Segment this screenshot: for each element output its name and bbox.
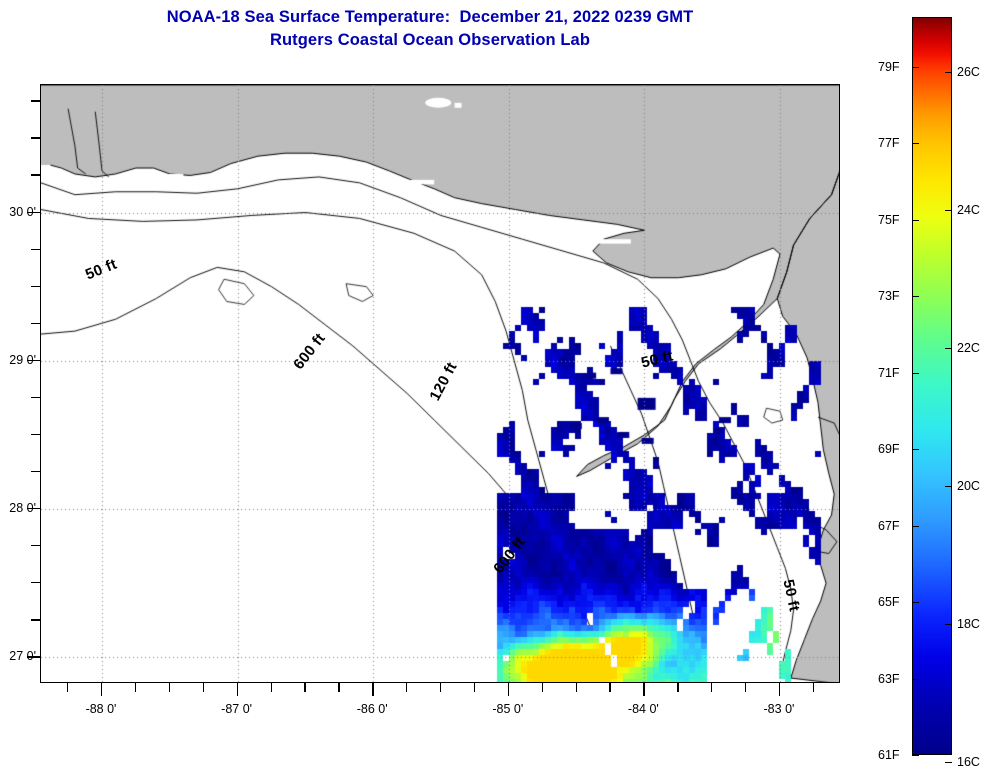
x-axis-tick	[711, 683, 712, 692]
colorbar-tick-celsius	[945, 762, 952, 763]
page-title: NOAA-18 Sea Surface Temperature: Decembe…	[0, 6, 860, 52]
x-axis-tick	[508, 683, 509, 696]
x-axis-label: -88 0'	[86, 702, 117, 716]
y-axis-tick	[31, 582, 40, 583]
colorbar-gradient	[912, 17, 952, 755]
colorbar-tick-fahrenheit	[912, 296, 919, 297]
colorbar-tick-celsius	[945, 624, 952, 625]
colorbar-label-fahrenheit: 65F	[878, 595, 900, 609]
x-axis-tick	[440, 683, 441, 692]
y-axis-label: 29 0'	[9, 353, 36, 367]
title-line-2: Rutgers Coastal Ocean Observation Lab	[0, 29, 860, 52]
colorbar-label-celsius: 16C	[957, 755, 980, 769]
x-axis-tick	[338, 683, 339, 692]
x-axis-tick	[237, 683, 238, 696]
colorbar-label-celsius: 24C	[957, 203, 980, 217]
title-line-1: NOAA-18 Sea Surface Temperature: Decembe…	[0, 6, 860, 29]
y-axis-tick	[31, 323, 40, 324]
colorbar-tick-fahrenheit	[912, 67, 919, 68]
sst-map-plot[interactable]: 50 ft600 ft120 ft600 ft50 ft50 ft	[40, 84, 840, 683]
x-axis-tick	[203, 683, 204, 692]
colorbar-tick-celsius	[945, 348, 952, 349]
x-axis-tick	[271, 683, 272, 692]
x-axis-tick	[474, 683, 475, 692]
colorbar-tick-celsius	[945, 486, 952, 487]
y-axis-label: 27 0'	[9, 649, 36, 663]
colorbar-label-fahrenheit: 69F	[878, 442, 900, 456]
y-axis-tick	[31, 100, 40, 101]
y-axis-tick	[31, 434, 40, 435]
colorbar-label-fahrenheit: 61F	[878, 748, 900, 762]
colorbar-tick-fahrenheit	[912, 449, 919, 450]
colorbar-label-fahrenheit: 67F	[878, 519, 900, 533]
x-axis-tick	[576, 683, 577, 692]
x-axis-tick	[745, 683, 746, 692]
x-axis-tick	[67, 683, 68, 692]
colorbar-tick-fahrenheit	[912, 220, 919, 221]
colorbar-label-fahrenheit: 77F	[878, 136, 900, 150]
colorbar-tick-fahrenheit	[912, 373, 919, 374]
colorbar-tick-fahrenheit	[912, 526, 919, 527]
x-axis-tick	[677, 683, 678, 692]
x-axis-tick	[372, 683, 373, 696]
colorbar-label-celsius: 26C	[957, 65, 980, 79]
colorbar-tick-celsius	[945, 72, 952, 73]
x-axis-label: -86 0'	[357, 702, 388, 716]
x-axis-label: -83 0'	[764, 702, 795, 716]
y-axis-tick	[31, 471, 40, 472]
x-axis-label: -87 0'	[221, 702, 252, 716]
y-axis-tick	[31, 545, 40, 546]
y-axis-tick	[31, 286, 40, 287]
y-axis-label: 28 0'	[9, 501, 36, 515]
y-axis-label: 30 0'	[9, 205, 36, 219]
colorbar-tick-fahrenheit	[912, 602, 919, 603]
x-axis-tick	[101, 683, 102, 696]
colorbar	[912, 17, 952, 755]
colorbar-tick-fahrenheit	[912, 679, 919, 680]
x-axis-tick	[609, 683, 610, 692]
colorbar-label-celsius: 18C	[957, 617, 980, 631]
x-axis-tick	[542, 683, 543, 692]
colorbar-tick-fahrenheit	[912, 755, 919, 756]
colorbar-label-fahrenheit: 63F	[878, 672, 900, 686]
x-axis-label: -84 0'	[628, 702, 659, 716]
colorbar-tick-fahrenheit	[912, 143, 919, 144]
x-axis-label: -85 0'	[492, 702, 523, 716]
colorbar-tick-celsius	[945, 210, 952, 211]
colorbar-label-fahrenheit: 71F	[878, 366, 900, 380]
colorbar-label-celsius: 22C	[957, 341, 980, 355]
y-axis-tick	[31, 174, 40, 175]
x-axis-tick	[169, 683, 170, 692]
x-axis-tick	[813, 683, 814, 692]
x-axis-tick	[643, 683, 644, 696]
colorbar-label-fahrenheit: 75F	[878, 213, 900, 227]
x-axis-tick	[304, 683, 305, 692]
colorbar-label-fahrenheit: 73F	[878, 289, 900, 303]
x-axis-tick	[779, 683, 780, 696]
x-axis-tick	[135, 683, 136, 692]
y-axis-tick	[31, 397, 40, 398]
x-axis-tick	[406, 683, 407, 692]
colorbar-label-celsius: 20C	[957, 479, 980, 493]
y-axis-tick	[31, 249, 40, 250]
y-axis-tick	[31, 619, 40, 620]
colorbar-label-fahrenheit: 79F	[878, 60, 900, 74]
y-axis-tick	[31, 137, 40, 138]
